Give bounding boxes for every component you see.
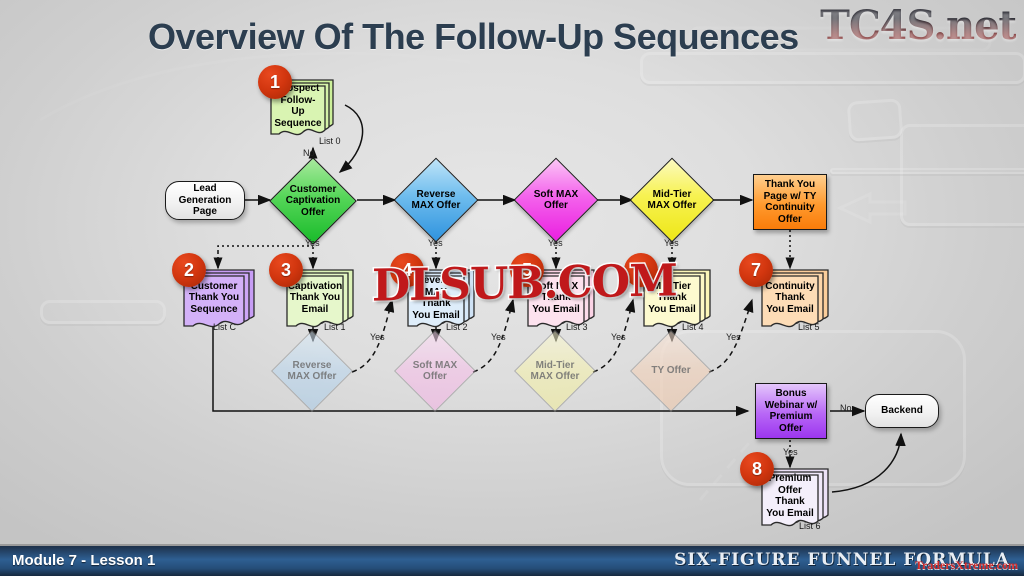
node-label: TY Offer [642,342,700,400]
node-ghost-mid-tier-max-offer[interactable]: Mid-Tier MAX Offer [526,342,584,400]
badge-3[interactable]: 3 [269,253,303,287]
list-label-0: List 0 [319,136,341,146]
badge-8[interactable]: 8 [740,452,774,486]
list-label-6: List 6 [799,521,821,531]
node-label: Lead Generation Page [166,183,244,218]
list-label-c: List C [213,322,236,332]
node-label: Soft MAX Offer [406,342,464,400]
edge-label-yes-list1: Yes [370,332,385,342]
node-thank-you-page-continuity[interactable]: Thank You Page w/ TY Continuity Offer [753,174,827,230]
node-reverse-max-offer[interactable]: Reverse MAX Offer [406,170,466,230]
node-backend[interactable]: Backend [865,394,939,428]
node-soft-max-offer[interactable]: Soft MAX Offer [526,170,586,230]
list-label-5: List 5 [798,322,820,332]
badge-2[interactable]: 2 [172,253,206,287]
node-label: Thank You Page w/ TY Continuity Offer [758,179,822,225]
node-bonus-webinar[interactable]: Bonus Webinar w/ Premium Offer [755,383,827,439]
list-label-2: List 2 [446,322,468,332]
edge-label-yes-reverse: Yes [428,238,443,248]
list-label-3: List 3 [566,322,588,332]
node-lead-generation-page[interactable]: Lead Generation Page [165,181,245,220]
node-label: Bonus Webinar w/ Premium Offer [760,388,822,434]
edge-label-no-top: No [303,148,315,158]
node-label: Soft MAX Offer [526,170,586,230]
edge-label-yes-soft: Yes [548,238,563,248]
node-label: Backend [881,405,923,417]
edge-label-yes-list3: Yes [611,332,626,342]
edge-label-no-backend: No [840,403,852,413]
node-label: Customer Captivation Offer [282,170,344,232]
edge-label-yes-captivation: Yes [305,238,320,248]
node-ghost-ty-offer[interactable]: TY Offer [642,342,700,400]
edge-label-yes-list4: Yes [726,332,741,342]
badge-1[interactable]: 1 [258,65,292,99]
node-label: Mid-Tier MAX Offer [526,342,584,400]
list-label-4: List 4 [682,322,704,332]
node-label: Reverse MAX Offer [406,170,466,230]
node-label: Mid-Tier MAX Offer [642,170,702,230]
list-label-1: List 1 [324,322,346,332]
watermark-dlsub: DLSUB.COM [372,255,677,311]
node-ghost-soft-max-offer[interactable]: Soft MAX Offer [406,342,464,400]
node-label: Reverse MAX Offer [283,342,341,400]
edge-label-yes-midtier: Yes [664,238,679,248]
node-ghost-reverse-max-offer[interactable]: Reverse MAX Offer [283,342,341,400]
slide-canvas: Overview Of The Follow-Up Sequences TC4S… [0,0,1024,576]
edge-label-yes-premium: Yes [783,447,798,457]
node-customer-captivation-offer[interactable]: Customer Captivation Offer [282,170,344,232]
badge-7[interactable]: 7 [739,253,773,287]
edge-label-yes-list2: Yes [491,332,506,342]
node-mid-tier-max-offer[interactable]: Mid-Tier MAX Offer [642,170,702,230]
watermark-tradersxtreme: TradersXtreme.com [915,558,1018,573]
node-label: Continuity Thank You Email [762,274,818,322]
